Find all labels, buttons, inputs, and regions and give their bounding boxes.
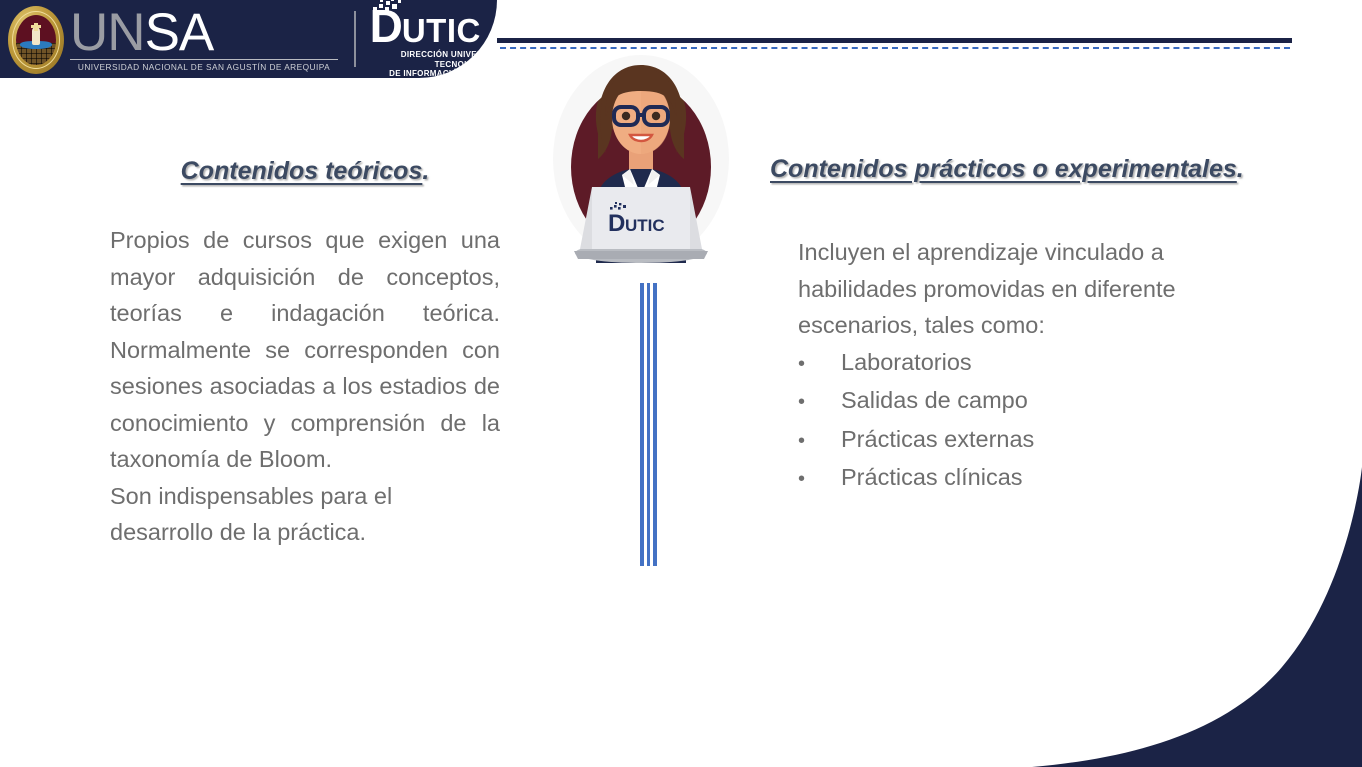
bullet-marker: • xyxy=(798,423,841,460)
right-heading-period: . xyxy=(1237,155,1244,183)
svg-text:D: D xyxy=(608,210,625,237)
bullet-marker: • xyxy=(798,384,841,421)
list-item: • Laboratorios xyxy=(798,344,1330,383)
left-column-body: Propios de cursos que exigen una mayor a… xyxy=(110,222,500,551)
list-item-label: Prácticas clínicas xyxy=(841,459,1023,496)
left-column-heading: Contenidos teóricos. xyxy=(110,157,500,186)
woman-at-laptop-illustration: D UTIC xyxy=(548,55,734,263)
list-item-label: Prácticas externas xyxy=(841,421,1034,458)
unsa-subtitle: UNIVERSIDAD NACIONAL DE SAN AGUSTÍN DE A… xyxy=(70,62,338,72)
right-column-body: Incluyen el aprendizaje vinculado a habi… xyxy=(798,234,1268,344)
left-heading-text: Contenidos teóricos xyxy=(181,157,423,185)
unsa-letters-un: UN xyxy=(70,3,145,62)
list-item: • Prácticas clínicas xyxy=(798,459,1330,498)
unsa-crest-icon xyxy=(8,6,64,74)
dutic-wordmark: D UTIC DIRECCIÓN UNIVERSITARIA DE TECNOL… xyxy=(370,0,497,78)
divider-line-1 xyxy=(640,283,644,566)
unsa-letter-s: S xyxy=(145,3,179,62)
corner-curve-decoration xyxy=(1032,467,1362,767)
bullet-marker: • xyxy=(798,346,841,383)
header-solid-rule xyxy=(497,38,1292,43)
dutic-subtitle-line-2: DE INFORMACIÓN Y COMUNICACIÓN xyxy=(370,69,497,78)
unsa-letter-a: A xyxy=(179,3,213,62)
dutic-subtitle: DIRECCIÓN UNIVERSITARIA DE TECNOLOGÍAS D… xyxy=(370,50,497,78)
dutic-subtitle-line-1: DIRECCIÓN UNIVERSITARIA DE TECNOLOGÍAS xyxy=(370,50,497,69)
dutic-pixel-dots-icon xyxy=(372,0,406,14)
slide-canvas: UNSA UNIVERSIDAD NACIONAL DE SAN AGUSTÍN… xyxy=(0,0,1362,767)
list-item: • Prácticas externas xyxy=(798,421,1330,460)
vertical-divider-lines xyxy=(640,283,657,566)
right-column-heading: Contenidos prácticos o experimentales. xyxy=(770,155,1330,184)
left-paragraph-2: Son indispensables para el desarrollo de… xyxy=(110,478,500,551)
divider-line-2 xyxy=(647,283,651,566)
right-column-bullet-list: • Laboratorios • Salidas de campo • Prác… xyxy=(798,344,1330,498)
svg-text:UTIC: UTIC xyxy=(625,216,665,235)
unsa-wordmark: UNSA UNIVERSIDAD NACIONAL DE SAN AGUSTÍN… xyxy=(70,6,338,73)
right-content-column: Contenidos prácticos o experimentales. I… xyxy=(770,155,1330,498)
list-item-label: Salidas de campo xyxy=(841,382,1028,419)
right-heading-text: Contenidos prácticos o experimentales xyxy=(770,155,1237,183)
left-heading-period: . xyxy=(422,157,429,185)
bullet-marker: • xyxy=(798,461,841,498)
dutic-letters-utic: UTIC xyxy=(402,15,481,47)
list-item: • Salidas de campo xyxy=(798,382,1330,421)
divider-line-3 xyxy=(653,283,657,566)
left-content-column: Contenidos teóricos. Propios de cursos q… xyxy=(110,157,500,551)
header-vertical-separator xyxy=(354,11,356,67)
header-banner: UNSA UNIVERSIDAD NACIONAL DE SAN AGUSTÍN… xyxy=(0,0,497,78)
list-item-label: Laboratorios xyxy=(841,344,972,381)
right-paragraph-1: Incluyen el aprendizaje vinculado a habi… xyxy=(798,234,1268,344)
header-dashed-rule xyxy=(500,47,1290,49)
left-paragraph-1: Propios de cursos que exigen una mayor a… xyxy=(110,222,500,478)
